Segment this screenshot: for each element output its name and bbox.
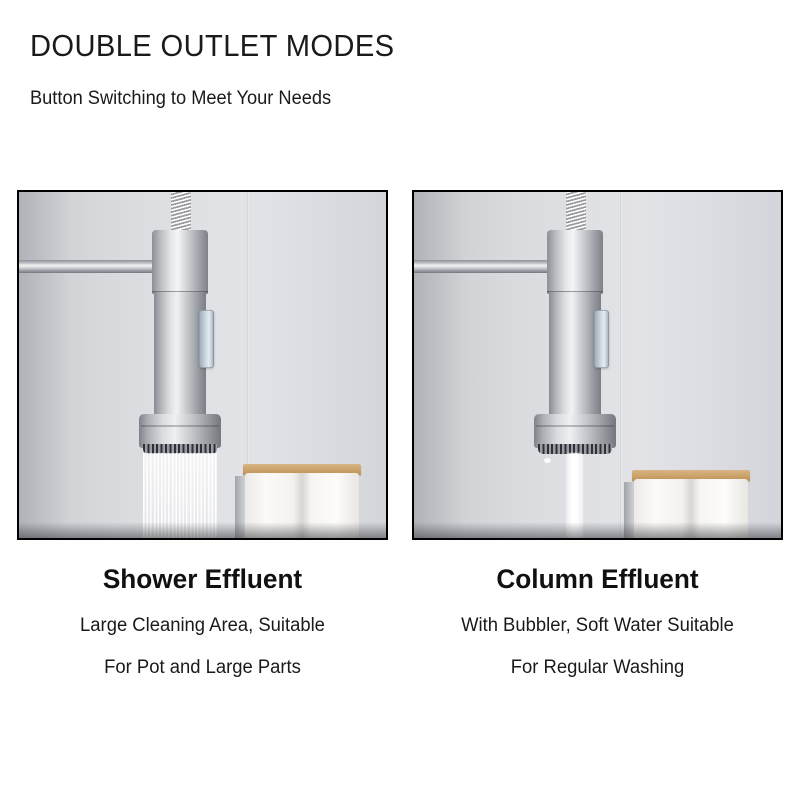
product-photo-column xyxy=(412,190,783,540)
mode-panel-shower: Shower Effluent Large Cleaning Area, Sui… xyxy=(17,190,388,679)
floor-shadow xyxy=(19,522,386,538)
caption-line-1: Large Cleaning Area, Suitable xyxy=(23,615,383,637)
header-block: DOUBLE OUTLET MODES Button Switching to … xyxy=(0,0,800,110)
faucet-spout-arm xyxy=(412,260,564,273)
faucet-head xyxy=(534,414,616,448)
caption-line-2: For Pot and Large Parts xyxy=(23,657,383,679)
caption-title: Column Effluent xyxy=(418,564,778,595)
faucet-assembly-shower xyxy=(19,192,386,538)
caption-column: Column Effluent With Bubbler, Soft Water… xyxy=(412,564,783,679)
page-title: DOUBLE OUTLET MODES xyxy=(30,30,754,61)
faucet-collar xyxy=(547,230,603,294)
caption-title: Shower Effluent xyxy=(23,564,383,595)
product-photo-shower xyxy=(17,190,388,540)
caption-line-2: For Regular Washing xyxy=(418,657,778,679)
caption-line-1: With Bubbler, Soft Water Suitable xyxy=(418,615,778,637)
faucet-collar xyxy=(152,230,208,294)
caption-shower: Shower Effluent Large Cleaning Area, Sui… xyxy=(17,564,388,679)
mode-switch-button[interactable] xyxy=(199,310,214,368)
mode-panel-column: Column Effluent With Bubbler, Soft Water… xyxy=(412,190,783,679)
page-subtitle: Button Switching to Meet Your Needs xyxy=(30,88,769,110)
faucet-assembly-column xyxy=(414,192,781,538)
floor-shadow xyxy=(414,522,781,538)
mode-switch-button[interactable] xyxy=(594,310,609,368)
water-droplet xyxy=(544,458,551,463)
faucet-head xyxy=(139,414,221,448)
mode-panels: Shower Effluent Large Cleaning Area, Sui… xyxy=(0,190,800,679)
faucet-spout-arm xyxy=(17,260,169,273)
